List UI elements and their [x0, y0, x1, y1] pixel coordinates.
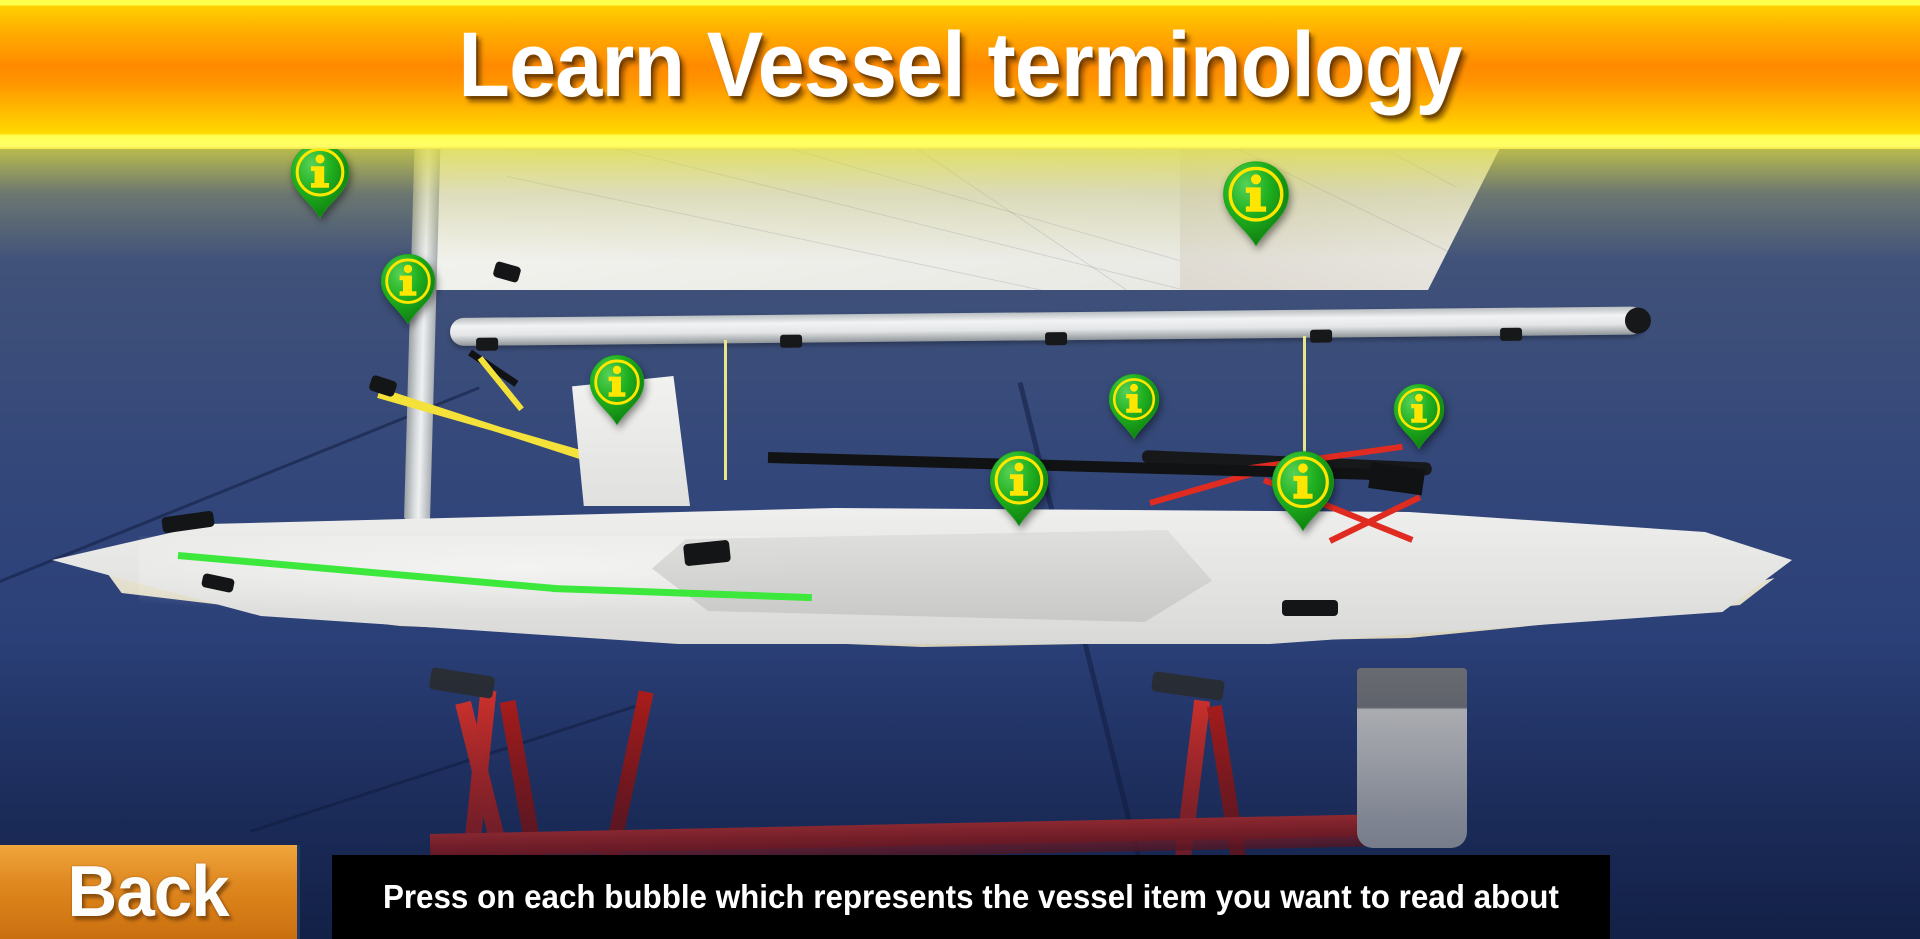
info-bubble-1[interactable] [290, 141, 350, 219]
boom-fitting-2 [780, 335, 802, 348]
kicking-strap-line [468, 350, 518, 387]
back-button[interactable]: Back [0, 845, 300, 939]
boom [450, 307, 1645, 346]
app-screen: Learn Vessel terminology Back Press on e… [0, 0, 1920, 939]
boom-fitting-1 [476, 338, 498, 351]
vang-rope [478, 356, 524, 411]
info-icon [1108, 372, 1160, 440]
info-icon [1222, 159, 1290, 247]
mainsheet-halyard-mid [724, 340, 727, 480]
info-icon [1271, 449, 1335, 532]
boom-fitting-4 [1310, 330, 1332, 343]
info-bubble-4[interactable] [1222, 159, 1290, 247]
back-button-label: Back [68, 855, 229, 929]
info-icon [290, 141, 350, 219]
info-bubble-7[interactable] [1271, 449, 1335, 532]
info-icon [989, 449, 1049, 527]
cockpit [652, 530, 1212, 622]
boom-end-cap [1625, 307, 1651, 333]
boom-fitting-5 [1500, 328, 1522, 341]
info-bubble-2[interactable] [380, 252, 436, 325]
page-title: Learn Vessel terminology [77, 9, 1843, 121]
info-bubble-5[interactable] [1108, 372, 1160, 440]
header-banner: Learn Vessel terminology [0, 0, 1920, 149]
instruction-bar: Press on each bubble which represents th… [332, 855, 1610, 939]
info-bubble-6[interactable] [989, 449, 1049, 527]
stern-cleat [1282, 600, 1338, 616]
info-bubble-8[interactable] [1393, 382, 1445, 450]
info-icon [380, 252, 436, 325]
vang-block-lower [368, 374, 398, 397]
boom-fitting-3 [1045, 332, 1067, 345]
info-icon [589, 353, 645, 426]
info-bubble-3[interactable] [589, 353, 645, 426]
instruction-text: Press on each bubble which represents th… [383, 879, 1559, 915]
info-icon [1393, 382, 1445, 450]
